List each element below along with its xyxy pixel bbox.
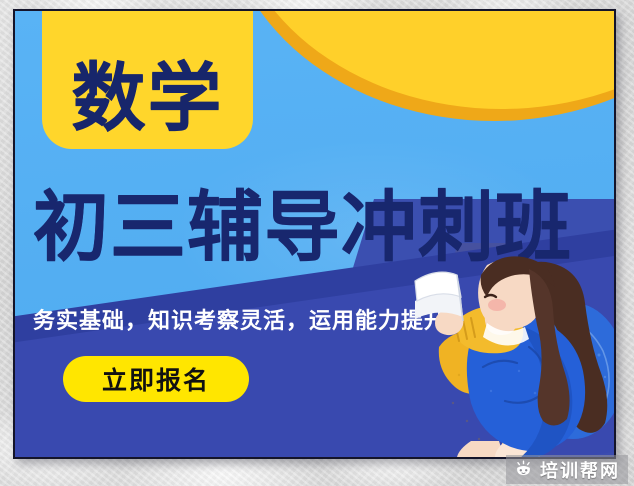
enroll-now-label: 立即报名 <box>102 361 210 397</box>
screenshot-root: 数学 初三辅导冲刺班 务实基础，知识考察灵活，运用能力提升 立即报名 <box>0 0 634 486</box>
subject-tag: 数学 <box>42 11 253 149</box>
enroll-now-button[interactable]: 立即报名 <box>63 356 249 402</box>
girl-reading-illustration <box>413 251 614 457</box>
poster-subtitle: 务实基础，知识考察灵活，运用能力提升 <box>33 309 447 335</box>
course-poster: 数学 初三辅导冲刺班 务实基础，知识考察灵活，运用能力提升 立即报名 <box>13 9 616 459</box>
sun-face-icon <box>514 460 533 479</box>
subject-tag-label: 数学 <box>72 61 224 135</box>
watermark-text: 培训帮网 <box>540 457 620 483</box>
watermark: 培训帮网 <box>506 455 628 484</box>
poster-stage: 数学 初三辅导冲刺班 务实基础，知识考察灵活，运用能力提升 立即报名 <box>15 11 614 457</box>
